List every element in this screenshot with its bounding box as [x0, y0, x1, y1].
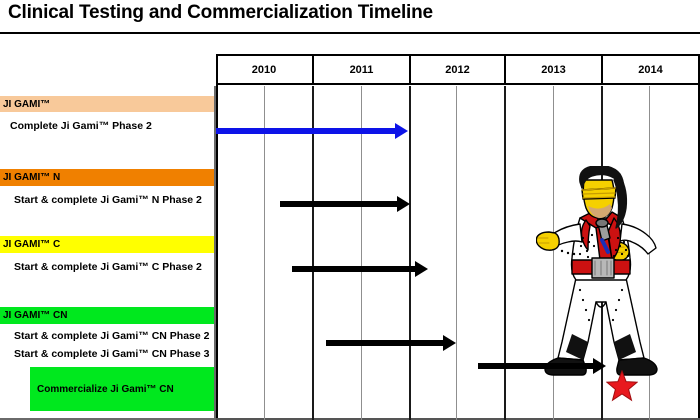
gridline-minor-2011-mid	[361, 86, 362, 420]
task-label-jigami-c-phase2: Start & complete Ji Gami™ C Phase 2	[14, 260, 202, 274]
group-band-jigami: JI GAMI™	[0, 96, 216, 112]
year-header-2010: 2010	[216, 56, 312, 85]
plot-left-border	[216, 86, 218, 420]
milestone-star-icon	[606, 370, 638, 402]
group-label-jigami-n: JI GAMI™ N	[3, 172, 60, 183]
elvis-presley-illustration	[536, 166, 666, 381]
group-label-jigami-cn: JI GAMI™ CN	[3, 310, 67, 321]
task-label-jigami-cn-phase2: Start & complete Ji Gami™ CN Phase 2	[14, 329, 209, 343]
year-header-2011: 2011	[314, 56, 409, 85]
milestone-band-commercialize-cn: Commercialize Ji Gami™ CN	[30, 367, 216, 411]
task-label-jigami-phase2: Complete Ji Gami™ Phase 2	[10, 119, 152, 133]
task-label-jigami-cn-phase3: Start & complete Ji Gami™ CN Phase 3	[14, 347, 209, 361]
group-band-jigami-n: JI GAMI™ N	[0, 169, 216, 186]
title-divider	[0, 32, 700, 34]
bar-arrowhead	[593, 358, 606, 374]
gridline-major-2011	[312, 86, 314, 420]
group-band-jigami-cn: JI GAMI™ CN	[0, 307, 216, 324]
bar-arrowhead	[443, 335, 456, 351]
gridline-minor-2012-mid	[456, 86, 457, 420]
year-header-2012: 2012	[411, 56, 504, 85]
bar-arrowhead	[397, 196, 410, 212]
group-band-jigami-c: JI GAMI™ C	[0, 236, 216, 253]
page-title: Clinical Testing and Commercialization T…	[8, 2, 433, 24]
gridline-major-2013	[504, 86, 506, 420]
group-label-jigami: JI GAMI™	[3, 99, 50, 110]
year-header-2013: 2013	[506, 56, 601, 85]
task-label-column: JI GAMI™ Complete Ji Gami™ Phase 2 JI GA…	[0, 86, 216, 420]
gantt-plot-area	[216, 86, 700, 420]
milestone-label-commercialize-cn: Commercialize Ji Gami™ CN	[37, 384, 174, 395]
bar-shaft	[326, 340, 446, 346]
gridline-minor-2010-mid	[264, 86, 265, 420]
bar-shaft	[280, 201, 400, 207]
group-label-jigami-c: JI GAMI™ C	[3, 239, 60, 250]
bar-arrowhead	[395, 123, 408, 139]
bar-shaft	[216, 128, 398, 134]
task-label-jigami-n-phase2: Start & complete Ji Gami™ N Phase 2	[14, 193, 202, 207]
gridline-major-2012	[409, 86, 411, 420]
year-header-2014: 2014	[603, 56, 698, 85]
bar-shaft	[292, 266, 418, 272]
bar-arrowhead	[415, 261, 428, 277]
bar-shaft	[478, 363, 596, 369]
year-header-row: 2010 2011 2012 2013 2014	[216, 54, 700, 85]
timeline-chart: Clinical Testing and Commercialization T…	[0, 0, 700, 420]
